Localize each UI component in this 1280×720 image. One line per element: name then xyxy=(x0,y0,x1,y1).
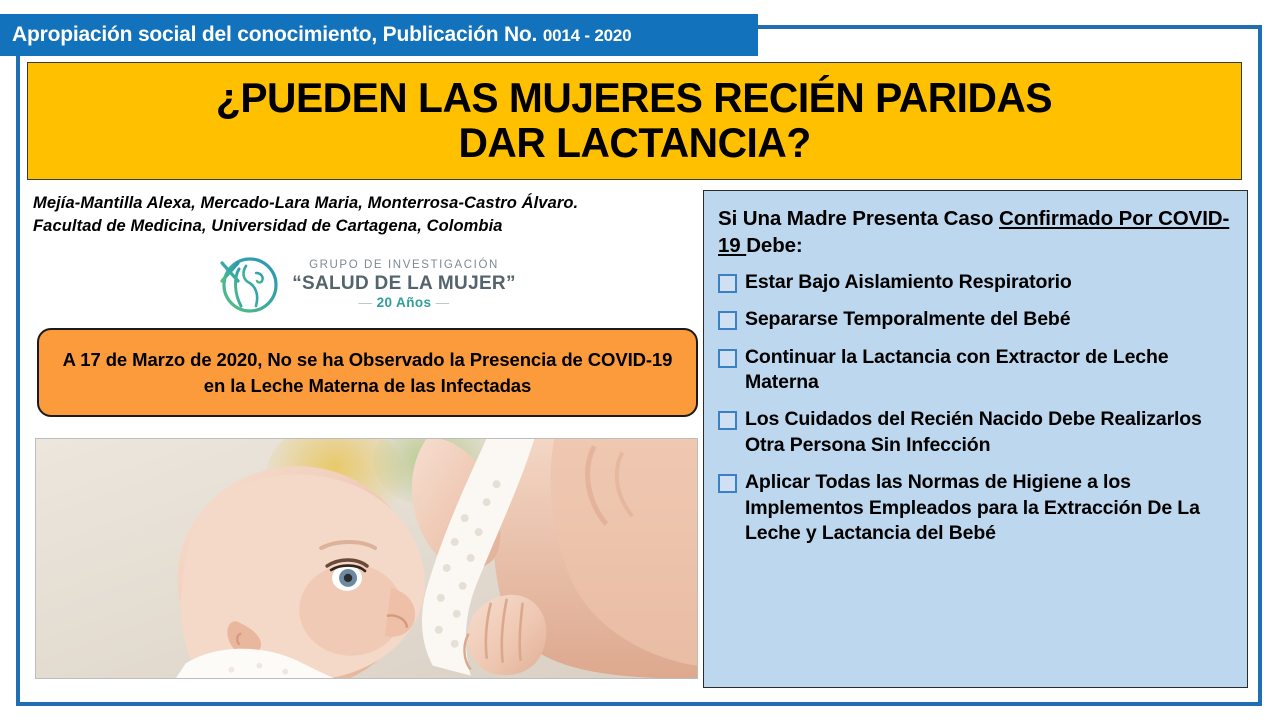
heading-part-1: Si Una Madre Presenta Caso xyxy=(718,207,999,230)
list-item-label: Separarse Temporalmente del Bebé xyxy=(745,307,1070,332)
list-item-label: Los Cuidados del Recién Nacido Debe Real… xyxy=(745,407,1235,458)
key-finding-text: A 17 de Marzo de 2020, No se ha Observad… xyxy=(53,347,682,397)
checkbox-square-icon xyxy=(718,349,736,367)
logo-dash-left: — xyxy=(359,295,373,310)
logo-line-3: — 20 Años — xyxy=(359,296,450,310)
salud-de-la-mujer-emblem-icon xyxy=(212,249,284,321)
list-item-label: Aplicar Todas las Normas de Higiene a lo… xyxy=(745,470,1235,546)
recommendations-panel: Si Una Madre Presenta Caso Confirmado Po… xyxy=(703,190,1248,688)
checkbox-square-icon xyxy=(718,274,736,292)
ribbon-number: 0014 - 2020 xyxy=(543,26,632,45)
heading-part-2: Debe: xyxy=(746,234,802,257)
logo-line-1: GRUPO DE INVESTIGACIÓN xyxy=(309,260,499,272)
key-finding-box: A 17 de Marzo de 2020, No se ha Observad… xyxy=(37,328,698,417)
checkbox-square-icon xyxy=(718,411,736,429)
page-title-line-1: ¿PUEDEN LAS MUJERES RECIÉN PARIDAS xyxy=(216,76,1052,121)
research-group-logo: GRUPO DE INVESTIGACIÓN “SALUD DE LA MUJE… xyxy=(30,249,698,321)
logo-years: 20 Años xyxy=(377,295,432,310)
logo-line-2: “SALUD DE LA MUJER” xyxy=(292,274,516,293)
list-item: Aplicar Todas las Normas de Higiene a lo… xyxy=(718,470,1235,546)
poster-canvas: Apropiación social del conocimiento, Pub… xyxy=(0,0,1280,720)
publication-ribbon: Apropiación social del conocimiento, Pub… xyxy=(0,14,758,56)
breastfeeding-photo xyxy=(35,438,698,679)
list-item: Separarse Temporalmente del Bebé xyxy=(718,307,1235,332)
checkbox-square-icon xyxy=(718,474,736,492)
poster-title-band: ¿PUEDEN LAS MUJERES RECIÉN PARIDAS DAR L… xyxy=(27,62,1242,180)
left-column: Mejía-Mantilla Alexa, Mercado-Lara Maria… xyxy=(30,192,698,684)
list-item-label: Estar Bajo Aislamiento Respiratorio xyxy=(745,270,1072,295)
list-item-label: Continuar la Lactancia con Extractor de … xyxy=(745,345,1235,396)
authors-line-1: Mejía-Mantilla Alexa, Mercado-Lara Maria… xyxy=(33,192,698,215)
logo-dash-right: — xyxy=(436,295,450,310)
ribbon-prefix: Apropiación social del conocimiento, Pub… xyxy=(12,23,537,46)
page-title-line-2: DAR LACTANCIA? xyxy=(458,121,810,166)
logo-text-block: GRUPO DE INVESTIGACIÓN “SALUD DE LA MUJE… xyxy=(292,260,516,309)
authors-line-2: Facultad de Medicina, Universidad de Car… xyxy=(33,215,698,238)
list-item: Estar Bajo Aislamiento Respiratorio xyxy=(718,270,1235,295)
recommendations-heading: Si Una Madre Presenta Caso Confirmado Po… xyxy=(718,205,1235,259)
authors-block: Mejía-Mantilla Alexa, Mercado-Lara Maria… xyxy=(30,192,698,239)
publication-ribbon-text: Apropiación social del conocimiento, Pub… xyxy=(12,23,631,47)
checkbox-square-icon xyxy=(718,311,736,329)
list-item: Continuar la Lactancia con Extractor de … xyxy=(718,345,1235,396)
list-item: Los Cuidados del Recién Nacido Debe Real… xyxy=(718,407,1235,458)
